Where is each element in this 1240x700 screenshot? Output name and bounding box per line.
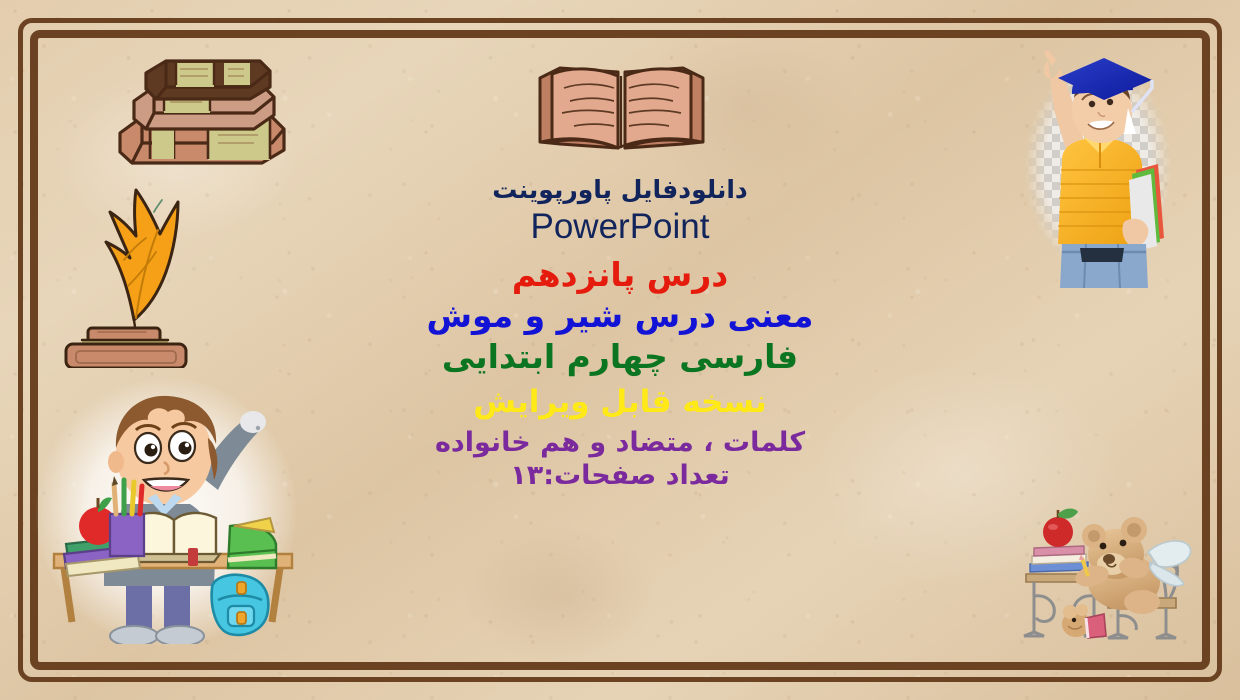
teddy-bear-desk-icon — [1008, 496, 1208, 648]
lesson-title: درس پانزدهم — [300, 257, 940, 294]
quill-inkwell-icon — [62, 168, 212, 368]
course-label: فارسی چهارم ابتدایی — [300, 339, 940, 376]
header-line: دانلودفایل پاورپوینت — [300, 176, 940, 204]
editable-note: نسخه قابل ویرایش — [300, 385, 940, 420]
lesson-subject: معنی درس شیر و موش — [300, 298, 940, 335]
student-at-desk-icon — [48, 386, 298, 644]
page-count-label: تعداد صفحات:۱۳ — [300, 461, 940, 491]
topics-label: کلمات ، متضاد و هم خانواده — [300, 428, 940, 458]
graduate-boy-photo — [1012, 38, 1184, 296]
slide-text-block: دانلودفایل پاورپوینت PowerPoint درس پانز… — [300, 176, 940, 491]
open-book-icon — [534, 58, 709, 158]
slide-canvas: دانلودفایل پاورپوینت PowerPoint درس پانز… — [0, 0, 1240, 700]
stacked-books-icon — [112, 55, 292, 170]
platform-label: PowerPoint — [300, 206, 940, 247]
